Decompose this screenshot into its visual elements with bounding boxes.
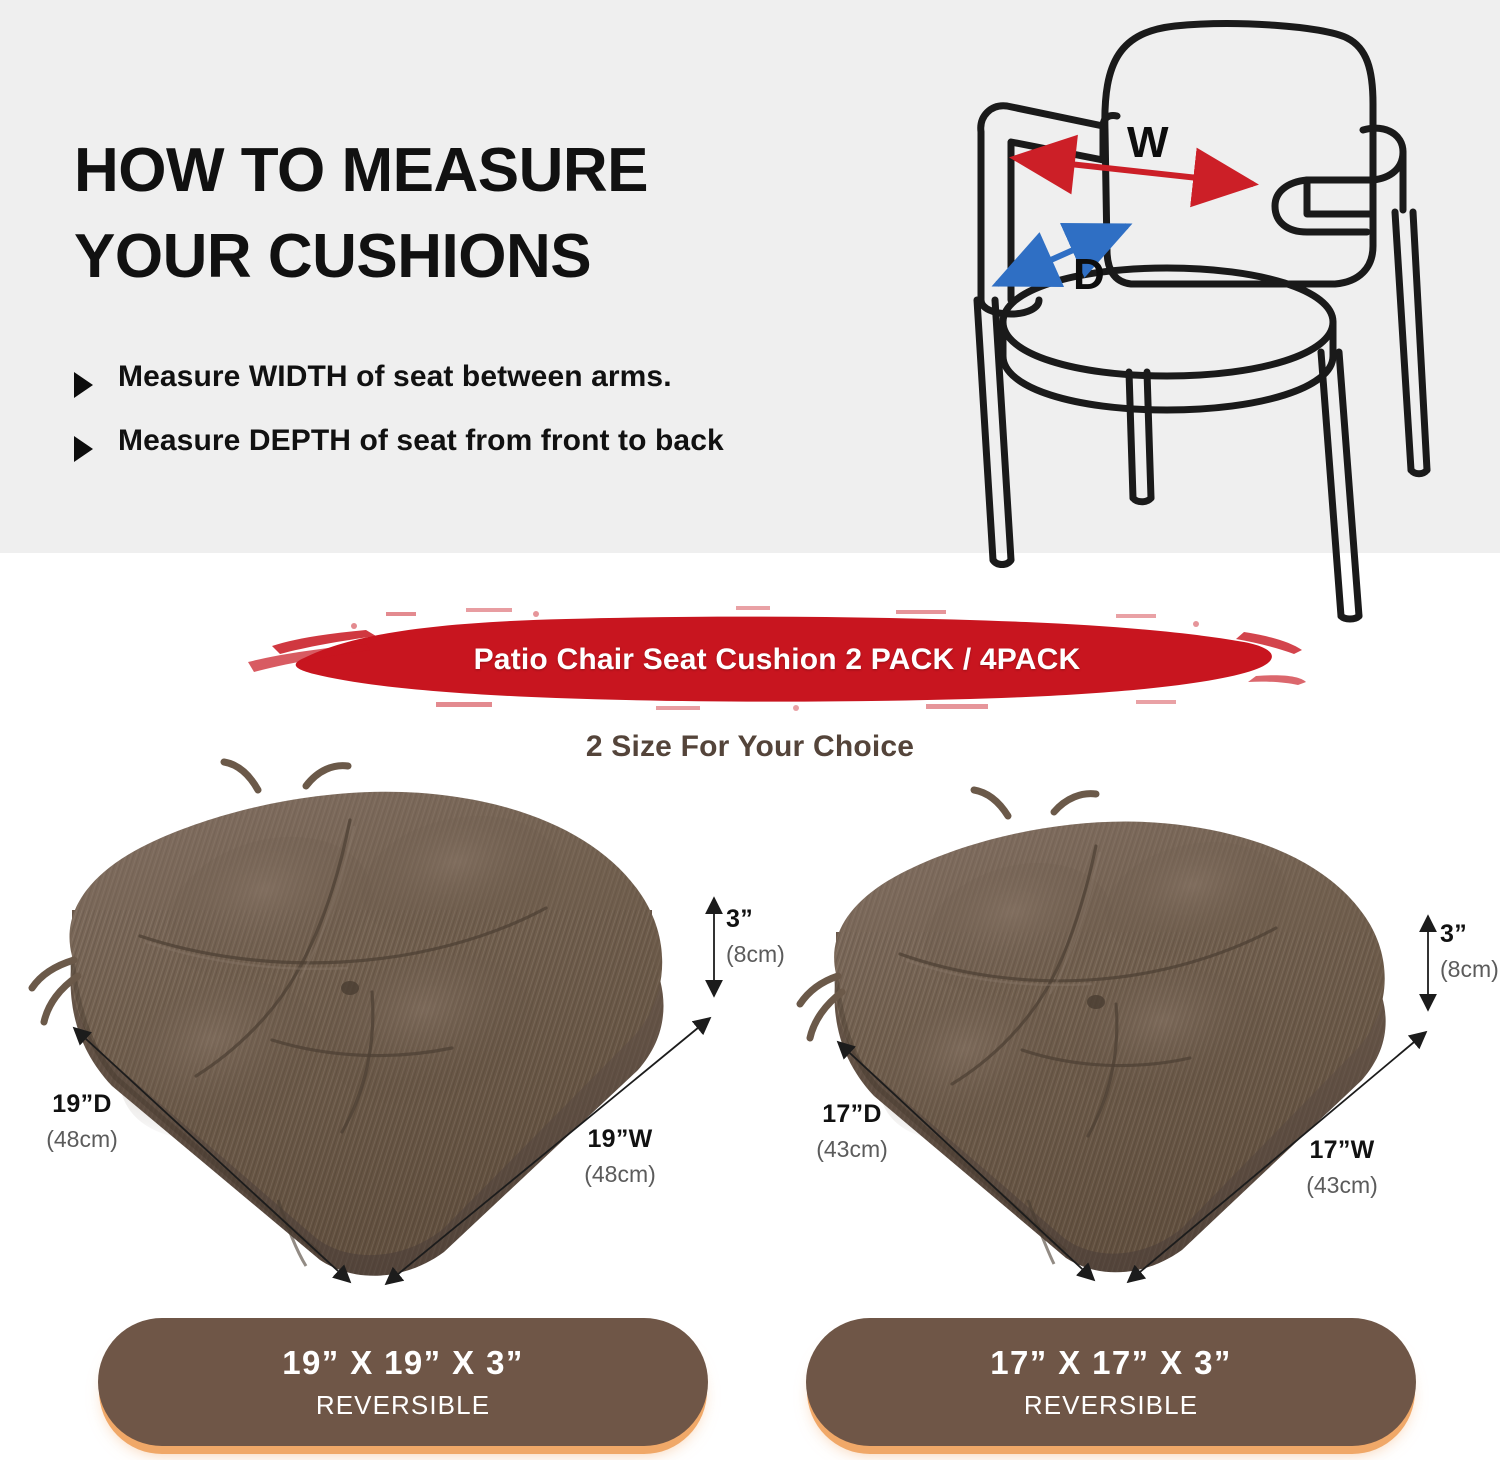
measure-instructions-list: Measure WIDTH of seat between arms. Meas… <box>74 360 914 488</box>
small-reversible-label: REVERSIBLE <box>1024 1390 1198 1421</box>
triangle-bullet-icon <box>74 372 96 398</box>
large-reversible-label: REVERSIBLE <box>316 1390 490 1421</box>
large-size-pill[interactable]: 19” X 19” X 3” REVERSIBLE <box>98 1318 708 1446</box>
product-banner: Patio Chair Seat Cushion 2 PACK / 4PACK <box>236 602 1306 712</box>
chair-diagram: W D <box>935 0 1425 620</box>
banner-title: Patio Chair Seat Cushion 2 PACK / 4PACK <box>236 602 1306 712</box>
instruction-depth: Measure DEPTH of seat from front to back <box>118 424 724 459</box>
instruction-width: Measure WIDTH of seat between arms. <box>118 360 672 395</box>
depth-label: D <box>1073 250 1105 300</box>
width-label: W <box>1127 118 1169 168</box>
small-width-dimension: 17”W (43cm) <box>1252 1136 1432 1199</box>
small-size-pill[interactable]: 17” X 17” X 3” REVERSIBLE <box>806 1318 1416 1446</box>
large-size-label: 19” X 19” X 3” <box>282 1344 524 1382</box>
list-item: Measure DEPTH of seat from front to back <box>74 424 914 462</box>
large-width-dimension: 19”W (48cm) <box>530 1125 710 1188</box>
large-depth-dimension: 19”D (48cm) <box>2 1090 162 1153</box>
small-height-dimension: 3” (8cm) <box>1440 920 1500 983</box>
list-item: Measure WIDTH of seat between arms. <box>74 360 914 398</box>
small-cushion-figure: 17”D (43cm) 17”W (43cm) 3” (8cm) <box>790 788 1430 1300</box>
infographic-page: HOW TO MEASURE YOUR CUSHIONS Measure WID… <box>0 0 1500 1460</box>
triangle-bullet-icon <box>74 436 96 462</box>
page-title: HOW TO MEASURE YOUR CUSHIONS <box>74 128 834 299</box>
large-cushion-figure: 19”D (48cm) 19”W (48cm) 3” (8cm) <box>20 760 720 1300</box>
small-depth-dimension: 17”D (43cm) <box>772 1100 932 1163</box>
small-size-label: 17” X 17” X 3” <box>990 1344 1232 1382</box>
cushion-comparison: 19”D (48cm) 19”W (48cm) 3” (8cm) <box>0 760 1500 1320</box>
